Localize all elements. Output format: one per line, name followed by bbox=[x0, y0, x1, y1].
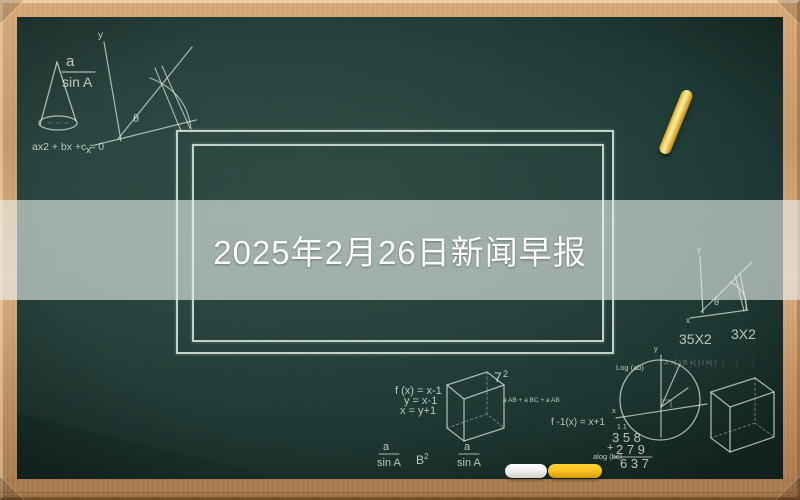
ledge-edge-line bbox=[0, 492, 800, 493]
chalk-ledge bbox=[0, 479, 800, 500]
title-banner: 2025年2月26日新闻早报 bbox=[0, 200, 800, 300]
yellow-chalk-icon bbox=[548, 464, 602, 478]
white-chalk-icon bbox=[505, 464, 547, 478]
screenshot-root: a sin A y x θ ax2 + bx +c = 0 y x bbox=[0, 0, 800, 500]
page-title: 2025年2月26日新闻早报 bbox=[213, 226, 586, 274]
